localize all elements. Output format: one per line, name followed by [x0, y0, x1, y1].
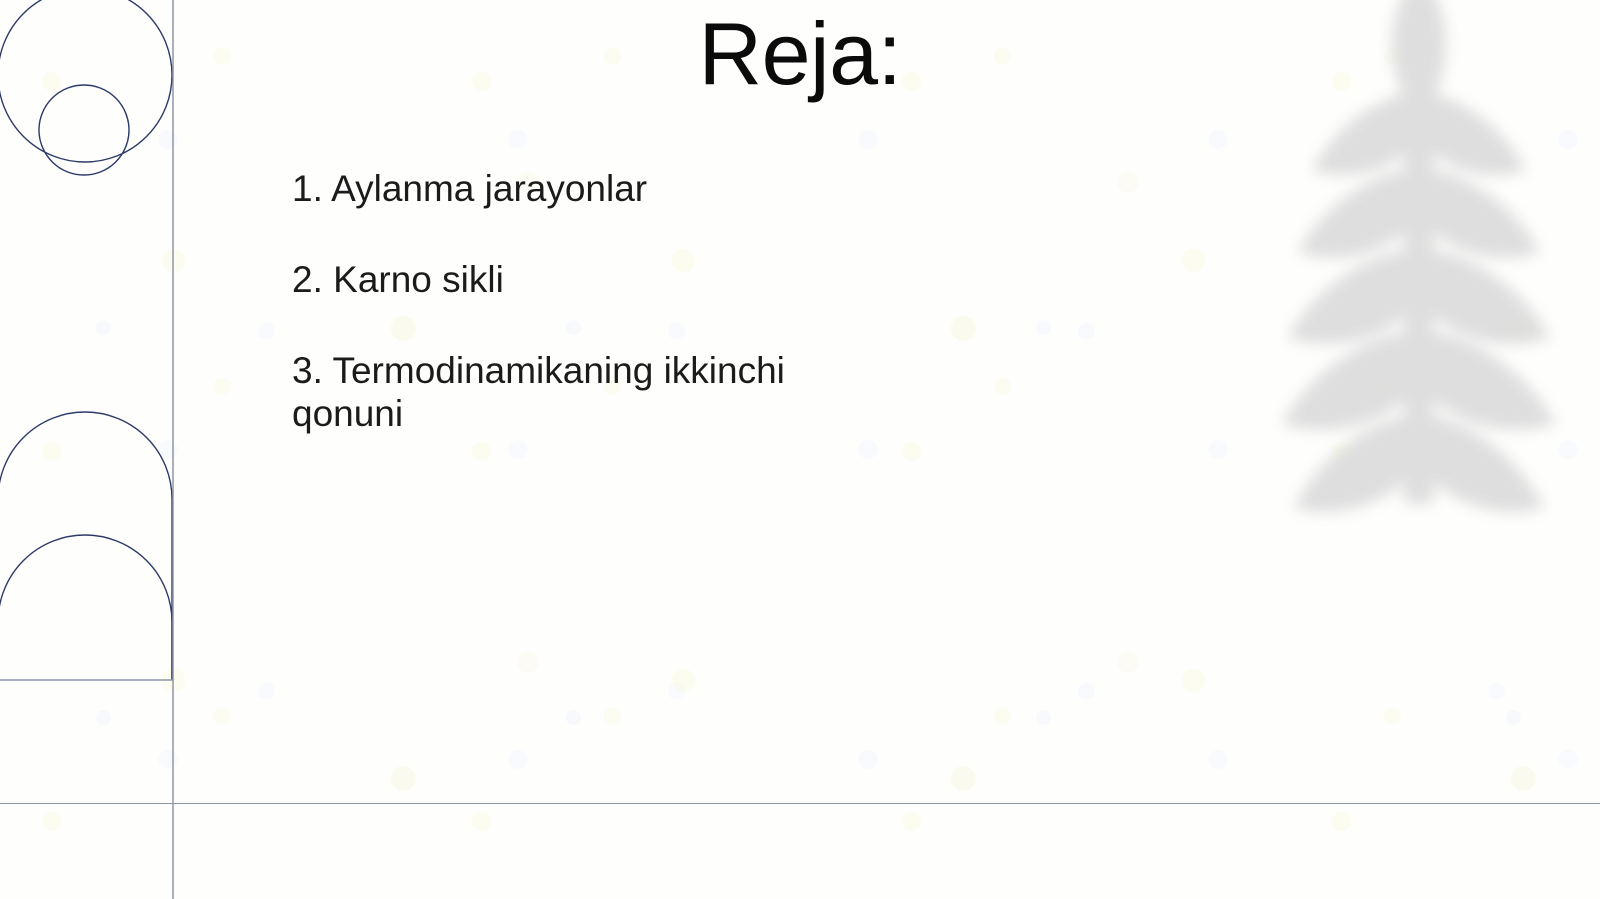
list-item: 2. Karno sikli: [292, 259, 892, 302]
lower-arch: [0, 535, 172, 680]
list-item: 1. Aylanma jarayonlar: [292, 168, 892, 211]
agenda-list: 1. Aylanma jarayonlar 2. Karno sikli 3. …: [292, 168, 892, 436]
full-horizontal-rule: [0, 803, 1600, 804]
slide-title: Reja:: [0, 6, 1600, 101]
paper-texture: [0, 0, 1600, 899]
list-item: 3. Termodinamikaning ikkinchi qonuni: [292, 350, 892, 436]
left-decoration-lineart: [0, 0, 200, 899]
slide-canvas: Reja: 1. Aylanma jarayonlar 2. Karno sik…: [0, 0, 1600, 899]
upper-arch: [0, 412, 172, 680]
